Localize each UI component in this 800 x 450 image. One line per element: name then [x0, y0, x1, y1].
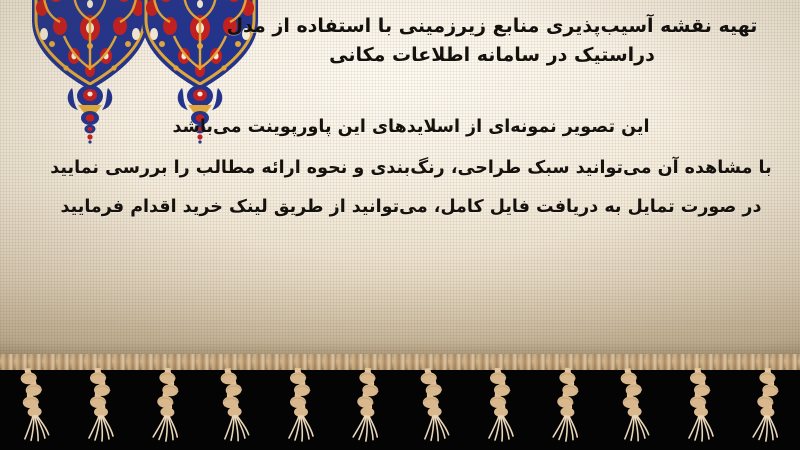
tassel: [213, 367, 253, 444]
tassel: [146, 367, 186, 444]
presentation-slide: تهیه نقشه آسیب‌پذیری منابع زیرزمینی با ا…: [0, 0, 800, 450]
tassel: [483, 368, 517, 442]
slide-title-line-1: تهیه نقشه آسیب‌پذیری منابع زیرزمینی با ا…: [227, 15, 758, 37]
tassel: [683, 368, 717, 442]
tassel: [413, 367, 453, 444]
tassel: [613, 367, 653, 444]
slide-title-line-2: دراستیک در سامانه اطلاعات مکانی: [212, 41, 772, 70]
tassel: [283, 368, 317, 442]
tassel: [746, 367, 786, 444]
tassel: [346, 367, 386, 444]
tassel: [546, 367, 586, 444]
tassel: [83, 368, 117, 442]
tassel: [13, 367, 53, 444]
body-line-3: در صورت تمایل به دریافت فایل کامل، می‌تو…: [46, 188, 776, 227]
body-line-2: با مشاهده آن می‌توانید سبک طراحی، رنگ‌بن…: [46, 149, 776, 188]
slide-title: تهیه نقشه آسیب‌پذیری منابع زیرزمینی با ا…: [212, 12, 772, 70]
slide-text-layer: تهیه نقشه آسیب‌پذیری منابع زیرزمینی با ا…: [0, 0, 800, 450]
slide-body: این تصویر نمونه‌ای از اسلایدهای این پاور…: [46, 108, 776, 227]
body-line-1: این تصویر نمونه‌ای از اسلایدهای این پاور…: [46, 108, 776, 147]
